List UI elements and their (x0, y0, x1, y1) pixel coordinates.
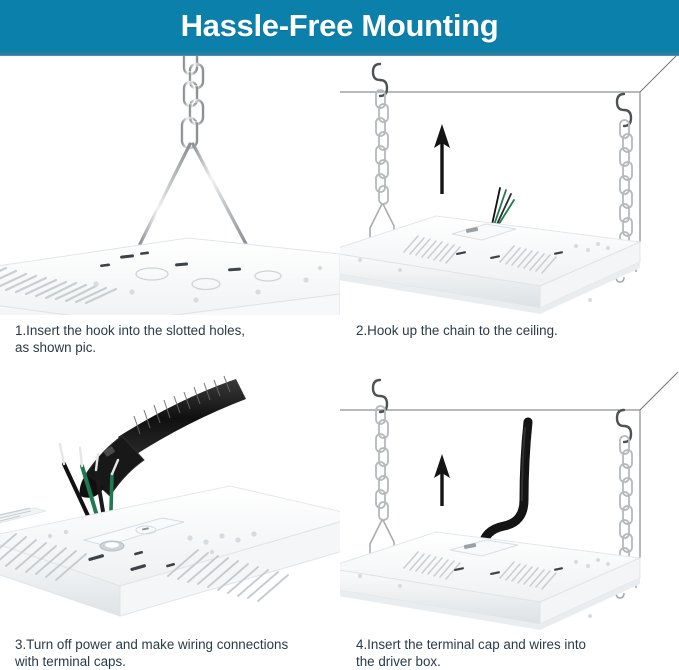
scene-conduit-into-driver-box (340, 370, 679, 630)
scene-wiring-with-terminal-cap (0, 370, 340, 630)
panel-step-2 (340, 56, 679, 315)
scene-hook-into-slotted-holes (0, 56, 340, 315)
up-arrow-icon (434, 454, 450, 506)
chain-left (376, 90, 388, 204)
s-hook-left (373, 380, 387, 412)
panel-step-3 (0, 370, 340, 630)
s-hook-right (617, 410, 631, 442)
scene-chain-to-ceiling (340, 56, 679, 315)
caption-step-1: 1.Insert the hook into the slotted holes… (15, 322, 335, 356)
caption-step-4: 4.Insert the terminal cap and wires into… (356, 636, 676, 670)
s-hook-left (373, 64, 387, 96)
caption-step-3: 3.Turn off power and make wiring connect… (15, 636, 340, 670)
ceiling-line-art (340, 372, 678, 568)
chain-link-group (182, 56, 203, 148)
instruction-sheet: Hassle-Free Mounting (0, 0, 679, 670)
chain-left (376, 406, 388, 520)
panel-step-1 (0, 56, 340, 315)
header-banner: Hassle-Free Mounting (0, 0, 679, 55)
up-arrow-icon (434, 124, 450, 194)
s-hook-right (617, 94, 631, 126)
chain-right (620, 120, 632, 250)
ceiling-line-art (340, 56, 678, 252)
panel-step-4 (340, 370, 679, 630)
chain-right (620, 436, 632, 566)
fixture-body (0, 238, 340, 315)
product-label (0, 508, 46, 525)
caption-step-2: 2.Hook up the chain to the ceiling. (356, 322, 676, 339)
terminal-cap (80, 376, 246, 498)
page-title: Hassle-Free Mounting (0, 0, 679, 52)
